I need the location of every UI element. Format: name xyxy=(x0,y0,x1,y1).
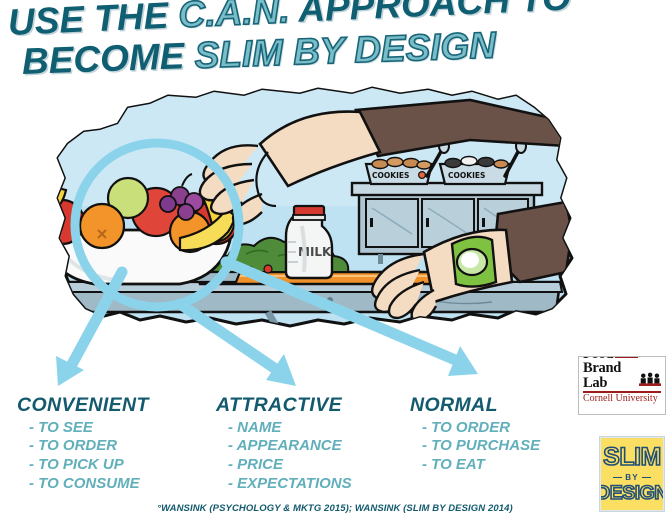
logo-dash-left xyxy=(613,477,622,479)
cookie-bin-label-left: COOKIES xyxy=(372,171,409,180)
list-item: EXPECTATIONS xyxy=(228,475,352,494)
infographic-poster: USE THE C.A.N. APPROACH TO BECOME SLIM B… xyxy=(0,0,670,523)
list-item: TO ORDER xyxy=(422,419,540,438)
can-columns: CONVENIENT TO SEE TO ORDER TO PICK UP TO… xyxy=(0,396,670,496)
column-heading-normal: NORMAL xyxy=(410,396,540,416)
cookie-bin-label-right: COOKIES xyxy=(448,171,485,180)
logo-by-row: BY xyxy=(613,473,651,482)
column-list-normal: TO ORDER TO PURCHASE TO EAT xyxy=(410,419,540,475)
list-item: APPEARANCE xyxy=(228,437,352,456)
column-convenient: CONVENIENT TO SEE TO ORDER TO PICK UP TO… xyxy=(17,396,149,494)
title-text-can: C.A.N. xyxy=(178,0,291,35)
milk-bottle: MILK xyxy=(286,206,332,278)
column-heading-attractive: ATTRACTIVE xyxy=(216,396,352,416)
column-attractive: ATTRACTIVE NAME APPEARANCE PRICE EXPECTA… xyxy=(216,396,352,494)
list-item: PRICE xyxy=(228,456,352,475)
list-item: TO PICK UP xyxy=(29,456,149,475)
column-heading-convenient: CONVENIENT xyxy=(17,396,149,416)
logo-word-slim: SLIM xyxy=(603,445,661,470)
title-text-become: BECOME xyxy=(21,35,195,82)
logo-word-by: BY xyxy=(625,473,639,482)
column-list-convenient: TO SEE TO ORDER TO PICK UP TO CONSUME xyxy=(17,419,149,494)
food-and-brand-lab-logo: FoodAND Brand Lab Cornell University xyxy=(578,356,666,415)
column-normal: NORMAL TO ORDER TO PURCHASE TO EAT xyxy=(410,396,540,475)
list-item: TO PURCHASE xyxy=(422,437,540,456)
list-item: TO EAT xyxy=(422,456,540,475)
column-list-attractive: NAME APPEARANCE PRICE EXPECTATIONS xyxy=(216,419,352,494)
slim-by-design-logo: SLIM BY DESIGN xyxy=(600,437,664,511)
logo-university-name: Cornell University xyxy=(583,394,661,404)
logo-word-and: AND xyxy=(615,356,637,358)
citation-footer: °WANSINK (PSYCHOLOGY & MKTG 2015); WANSI… xyxy=(0,503,670,514)
logo-word-brand-lab: Brand Lab xyxy=(583,361,639,390)
poster-title-block: USE THE C.A.N. APPROACH TO BECOME SLIM B… xyxy=(0,0,670,92)
people-at-table-icon xyxy=(639,370,661,390)
list-item: TO ORDER xyxy=(29,437,149,456)
logo-word-design: DESIGN xyxy=(600,484,664,504)
kitchen-scene-illustration: COOKIES COOKIES xyxy=(0,86,670,386)
list-item: TO SEE xyxy=(29,419,149,438)
title-text-approach-to: APPROACH TO xyxy=(288,0,571,30)
list-item: NAME xyxy=(228,419,352,438)
logo-dash-right xyxy=(642,477,651,479)
list-item: TO CONSUME xyxy=(29,475,149,494)
